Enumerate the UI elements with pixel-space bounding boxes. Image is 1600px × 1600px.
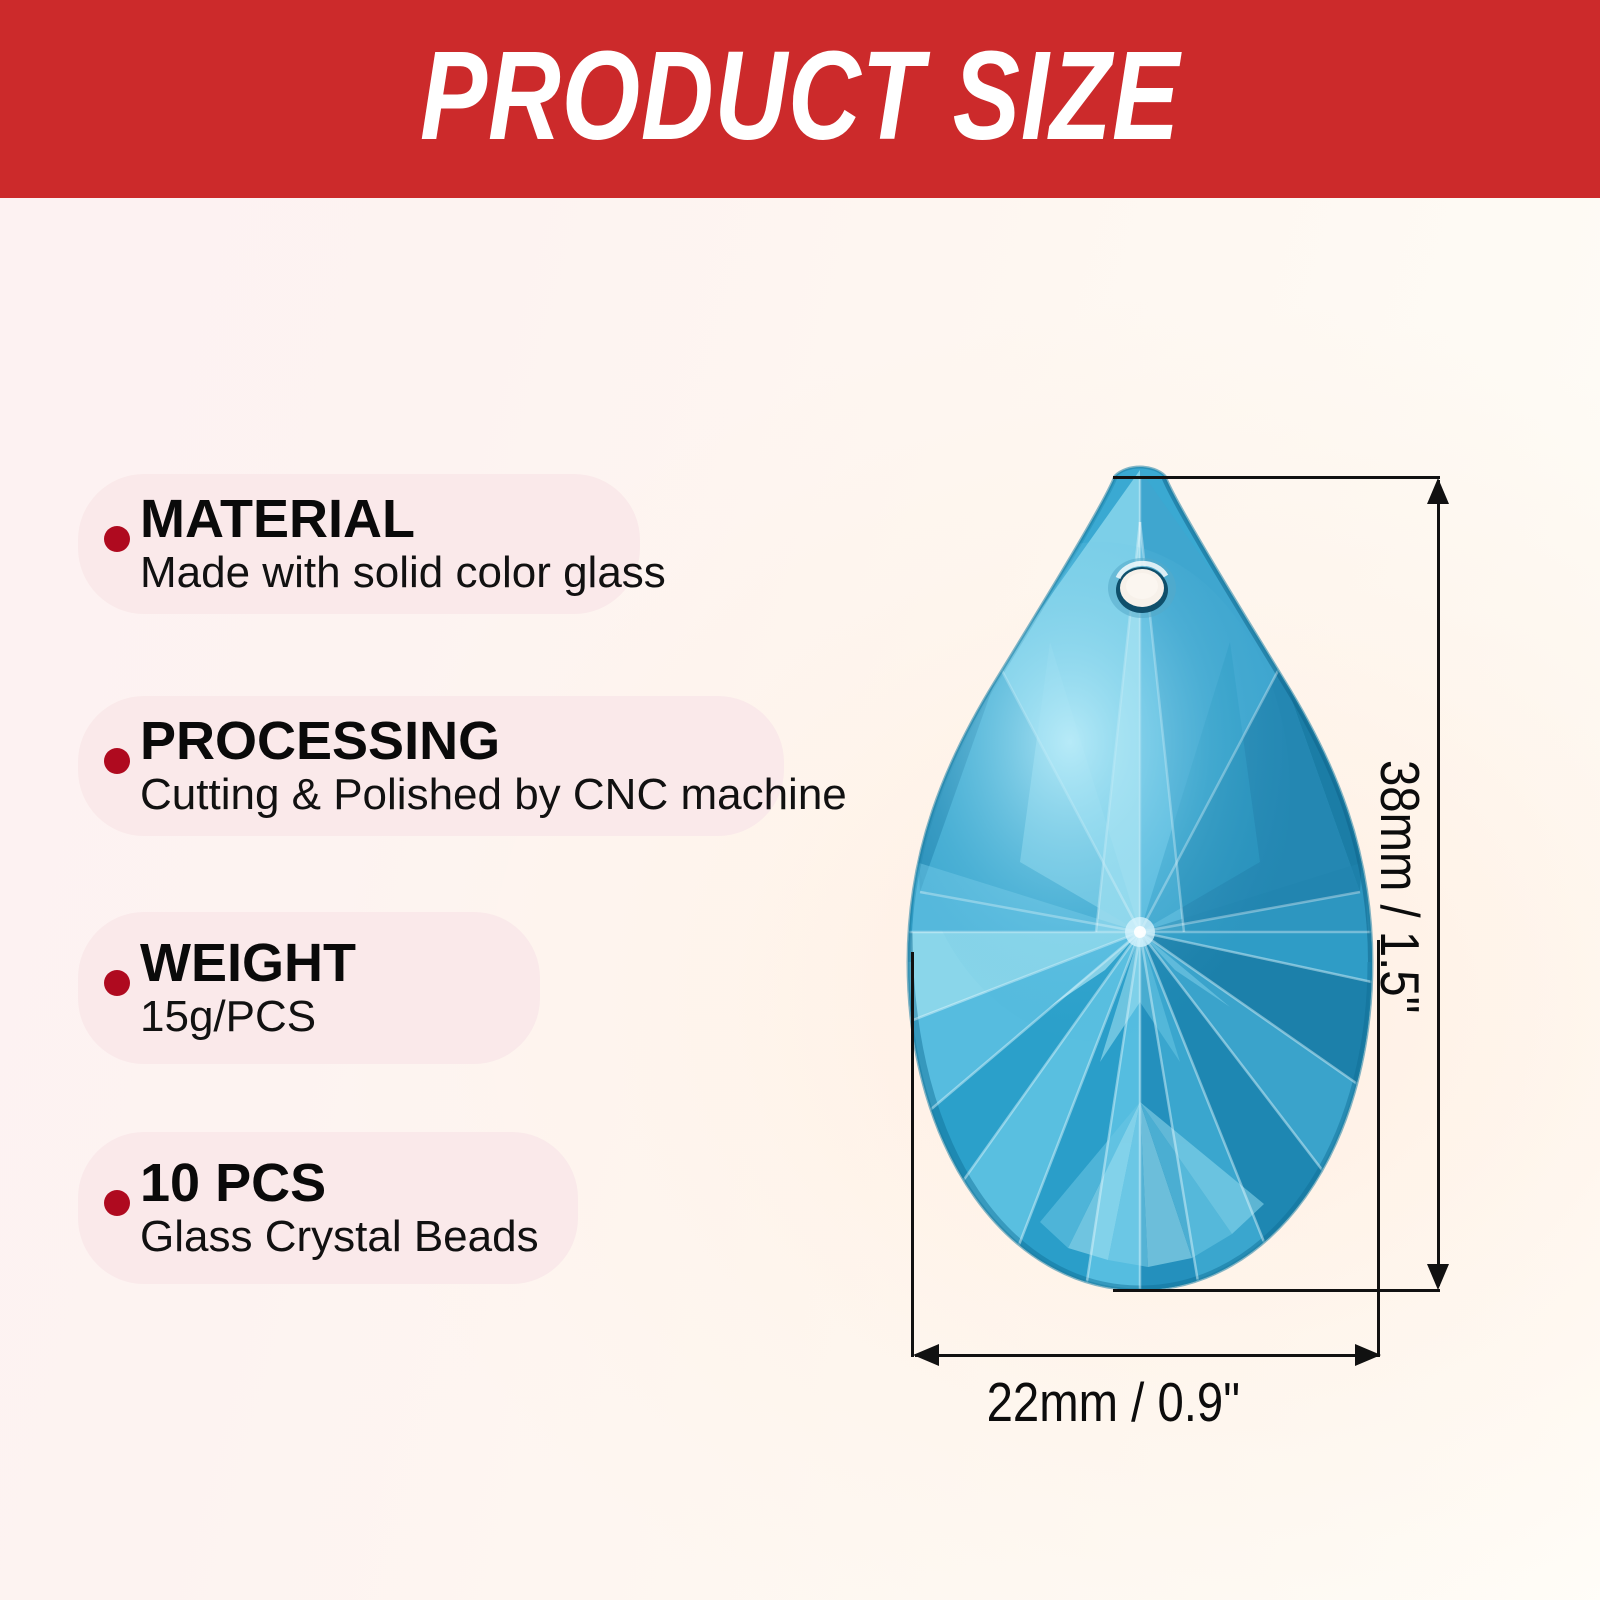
drilled-hole-icon [1108, 558, 1176, 618]
product-image-crystal [900, 462, 1380, 1300]
feature-card-processing: PROCESSING Cutting & Polished by CNC mac… [78, 696, 784, 836]
feature-card-quantity: 10 PCS Glass Crystal Beads [78, 1132, 578, 1284]
height-extension-line-top [1113, 476, 1440, 479]
feature-card-weight: WEIGHT 15g/PCS [78, 912, 540, 1064]
product-size-infographic: PRODUCT SIZE MATERIAL Made with solid co… [0, 0, 1600, 1600]
feature-subtitle: Cutting & Polished by CNC machine [140, 771, 784, 819]
width-dimension-line [915, 1354, 1379, 1357]
feature-subtitle: 15g/PCS [140, 993, 540, 1041]
bullet-dot-icon [104, 1190, 130, 1216]
width-arrow-left-icon [913, 1344, 939, 1366]
height-dimension-line [1437, 480, 1440, 1286]
height-arrow-down-icon [1427, 1264, 1449, 1290]
feature-subtitle: Made with solid color glass [140, 549, 640, 597]
width-arrow-right-icon [1355, 1344, 1381, 1366]
feature-title: MATERIAL [140, 492, 640, 547]
width-dimension-label: 22mm / 0.9" [987, 1370, 1240, 1434]
feature-card-material: MATERIAL Made with solid color glass [78, 474, 640, 614]
bullet-dot-icon [104, 970, 130, 996]
feature-title: WEIGHT [140, 936, 540, 991]
bullet-dot-icon [104, 748, 130, 774]
page-title: PRODUCT SIZE [420, 33, 1180, 159]
header-banner: PRODUCT SIZE [0, 0, 1600, 198]
width-extension-line-left [911, 952, 914, 1357]
bullet-dot-icon [104, 526, 130, 552]
height-arrow-up-icon [1427, 478, 1449, 504]
height-extension-line-bottom [1113, 1289, 1440, 1292]
width-extension-line-right [1377, 940, 1380, 1357]
feature-title: 10 PCS [140, 1156, 578, 1211]
feature-title: PROCESSING [140, 714, 784, 769]
feature-subtitle: Glass Crystal Beads [140, 1213, 578, 1261]
